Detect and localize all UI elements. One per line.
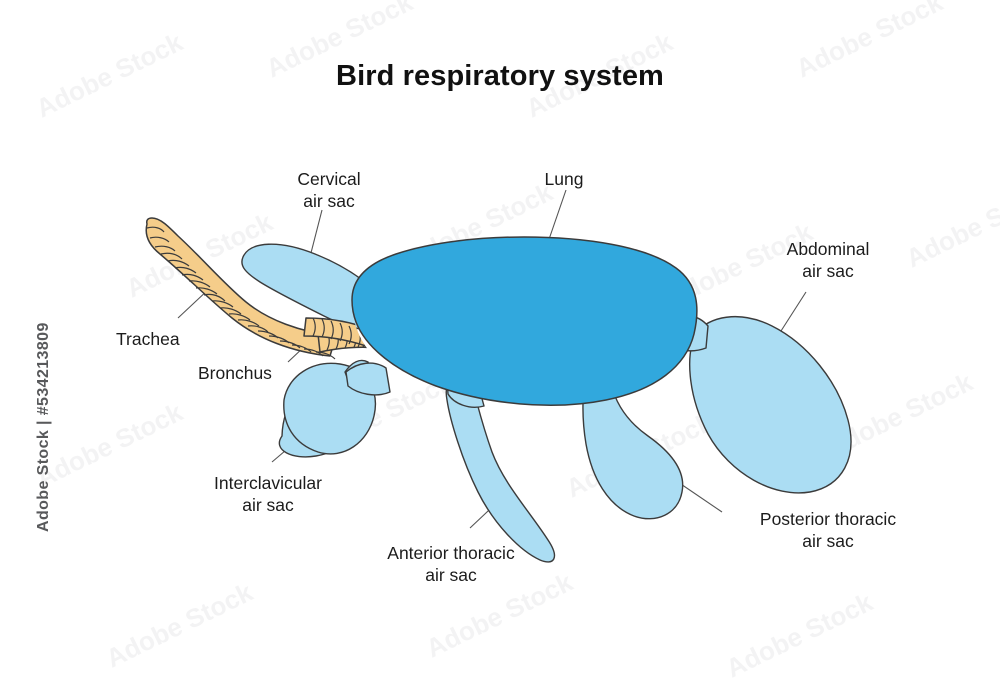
anterior-thoracic-air-sac-shape (446, 381, 554, 562)
abdominal-air-sac-shape (690, 317, 851, 493)
stock-watermark-credit: Adobe Stock | #534213809 (35, 272, 53, 532)
label-interclavicular-air-sac: Interclavicular air sac (168, 472, 368, 517)
label-lung: Lung (516, 168, 612, 190)
label-anterior-thoracic-air-sac: Anterior thoracic air sac (346, 542, 556, 587)
label-trachea: Trachea (116, 328, 246, 350)
lung-shape (352, 237, 697, 405)
label-cervical-air-sac: Cervical air sac (265, 168, 393, 213)
label-bronchus: Bronchus (198, 362, 338, 384)
diagram-canvas: Adobe Stock Adobe Stock Adobe Stock Adob… (0, 0, 1000, 667)
label-abdominal-air-sac: Abdominal air sac (748, 238, 908, 283)
label-posterior-thoracic-air-sac: Posterior thoracic air sac (722, 508, 934, 553)
